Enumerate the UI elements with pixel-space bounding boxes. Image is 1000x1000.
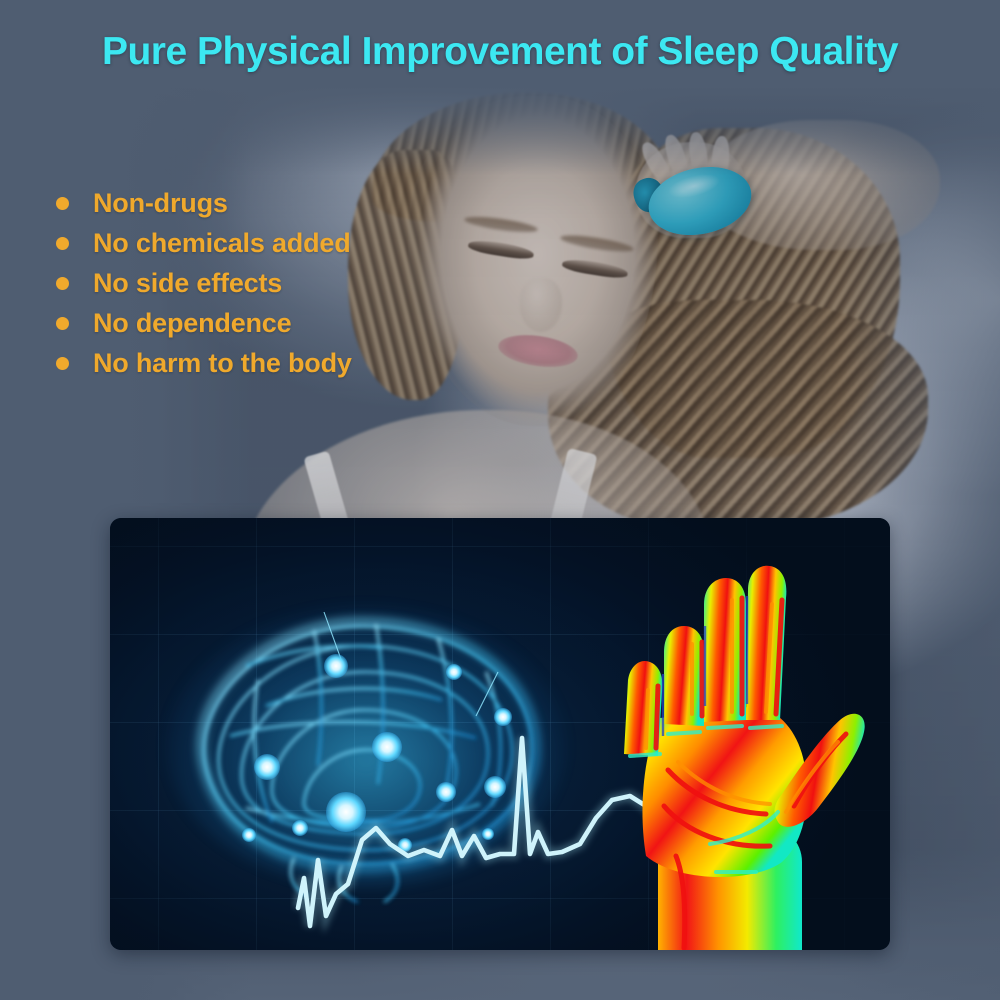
synapse-node <box>254 754 280 780</box>
bullet-dot-icon <box>56 357 69 370</box>
bullet-dot-icon <box>56 317 69 330</box>
benefit-label: No dependence <box>93 308 291 339</box>
list-item: Non-drugs <box>56 183 486 223</box>
benefit-label: No side effects <box>93 268 282 299</box>
benefit-label: No chemicals added <box>93 228 351 259</box>
page-title: Pure Physical Improvement of Sleep Quali… <box>0 30 1000 74</box>
thermal-hand-illustration <box>606 556 876 950</box>
benefit-label: Non-drugs <box>93 188 228 219</box>
list-item: No side effects <box>56 263 486 303</box>
list-item: No harm to the body <box>56 343 486 383</box>
benefit-label: No harm to the body <box>93 348 352 379</box>
bullet-dot-icon <box>56 277 69 290</box>
synapse-node <box>242 828 256 842</box>
bullet-dot-icon <box>56 237 69 250</box>
list-item: No dependence <box>56 303 486 343</box>
list-item: No chemicals added <box>56 223 486 263</box>
technology-panel <box>110 518 890 950</box>
benefits-list: Non-drugs No chemicals added No side eff… <box>56 183 486 383</box>
synapse-node <box>324 654 348 678</box>
product-marketing-image: Pure Physical Improvement of Sleep Quali… <box>0 0 1000 1000</box>
thermal-hand-icon <box>606 556 876 950</box>
bullet-dot-icon <box>56 197 69 210</box>
